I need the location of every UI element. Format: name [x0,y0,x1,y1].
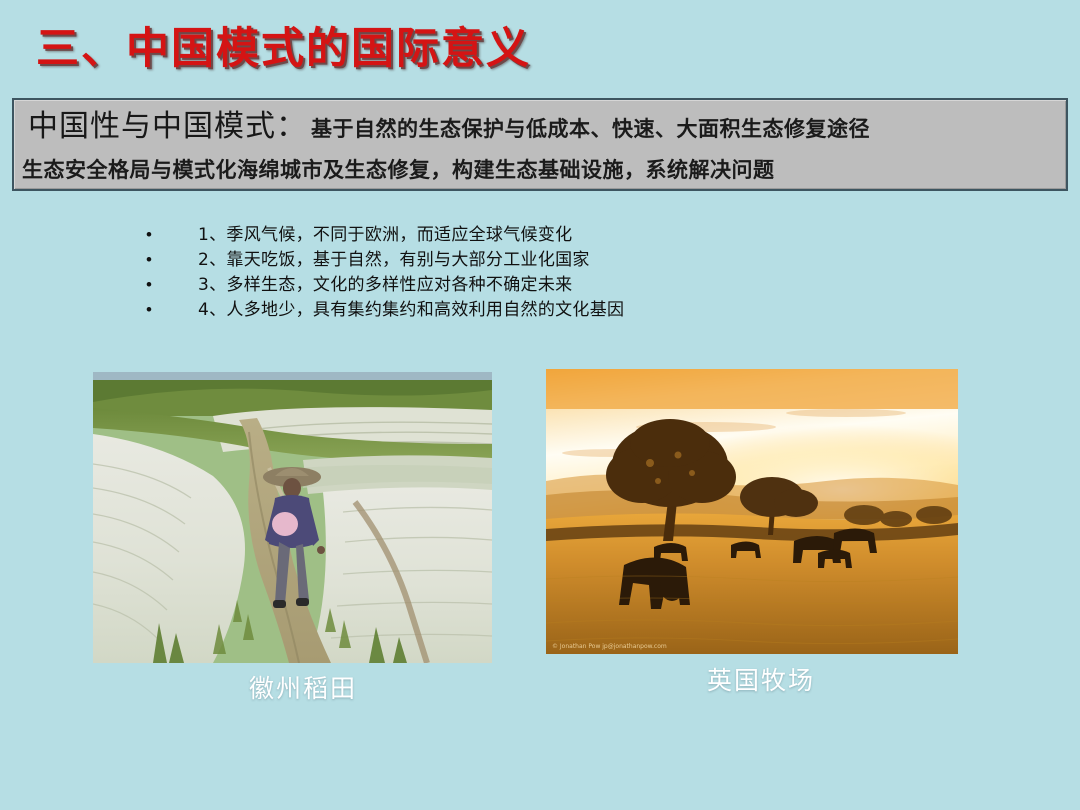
list-item-label: 3、多样生态，文化的多样性应对各种不确定未来 [198,273,572,298]
uk-pasture-photo: © Jonathan Pow jp@jonathanpow.com [546,369,958,654]
list-item: • 1、季风气候，不同于欧洲，而适应全球气候变化 [146,222,766,247]
list-item-label: 4、人多地少，具有集约集约和高效利用自然的文化基因 [198,298,624,323]
list-item: • 3、多样生态，文化的多样性应对各种不确定未来 [146,272,766,297]
statement-line-1-text: 基于自然的生态保护与低成本、快速、大面积生态修复途径 [311,119,870,140]
list-item-label: 1、季风气候，不同于欧洲，而适应全球气候变化 [198,223,572,248]
bullet-dot-icon: • [146,272,198,297]
rice-terraces-illustration [93,372,492,663]
rice-terraces-caption: 徽州稻田 [249,669,357,705]
bullet-list: • 1、季风气候，不同于欧洲，而适应全球气候变化 • 2、靠天吃饭，基于自然，有… [146,222,766,322]
slide-canvas: 三、中国模式的国际意义 中国性与中国模式： 基于自然的生态保护与低成本、快速、大… [0,0,1080,810]
statement-line-1: 中国性与中国模式： 基于自然的生态保护与低成本、快速、大面积生态修复途径 [14,112,1066,142]
statement-box: 中国性与中国模式： 基于自然的生态保护与低成本、快速、大面积生态修复途径 生态安… [12,98,1068,191]
statement-line-2: 生态安全格局与模式化海绵城市及生态修复，构建生态基础设施，系统解决问题 [14,154,1066,184]
list-item: • 2、靠天吃饭，基于自然，有别与大部分工业化国家 [146,247,766,272]
uk-pasture-illustration: © Jonathan Pow jp@jonathanpow.com [546,369,958,654]
list-item-label: 2、靠天吃饭，基于自然，有别与大部分工业化国家 [198,248,590,273]
page-title: 三、中国模式的国际意义 [36,26,531,73]
bullet-dot-icon: • [146,247,198,272]
list-item: • 4、人多地少，具有集约集约和高效利用自然的文化基因 [146,297,766,322]
uk-pasture-caption: 英国牧场 [707,661,815,697]
rice-terraces-photo [93,372,492,663]
statement-lead-label: 中国性与中国模式： [28,112,307,142]
bullet-dot-icon: • [146,222,198,247]
bullet-dot-icon: • [146,297,198,322]
photo-watermark: © Jonathan Pow jp@jonathanpow.com [552,643,667,650]
